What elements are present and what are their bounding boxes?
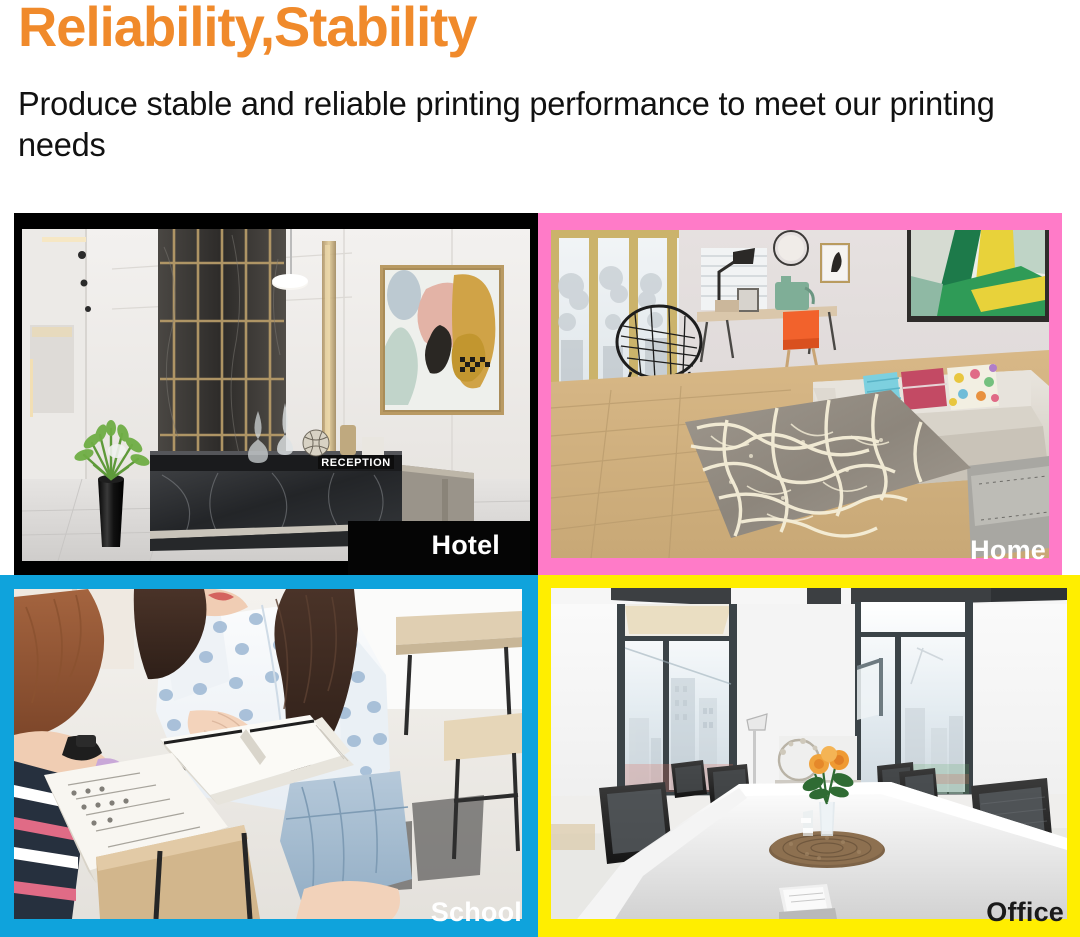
school-illustration — [14, 589, 522, 919]
scene-card-office: Office — [538, 575, 1080, 937]
page-title: Reliability,Stability — [18, 0, 477, 60]
home-illustration — [551, 230, 1049, 558]
scene-grid: RECEPTION — [0, 213, 1080, 937]
hotel-photo: RECEPTION — [22, 229, 530, 561]
scene-card-home: Home — [538, 213, 1062, 575]
svg-text:RECEPTION: RECEPTION — [321, 457, 391, 469]
promo-banner: Reliability,Stability Produce stable and… — [0, 0, 1080, 937]
scene-card-hotel: RECEPTION — [14, 213, 538, 575]
scene-label-home: Home — [970, 537, 1046, 564]
scene-label-hotel: Hotel — [432, 532, 501, 559]
page-subtitle: Produce stable and reliable printing per… — [18, 84, 1033, 166]
office-photo — [551, 588, 1067, 919]
school-photo — [14, 589, 522, 919]
office-illustration — [551, 588, 1067, 919]
hotel-illustration: RECEPTION — [22, 229, 530, 561]
scene-label-school: School — [431, 899, 522, 926]
scene-label-office: Office — [986, 899, 1064, 926]
scene-card-school: School — [0, 575, 538, 937]
header: Reliability,Stability Produce stable and… — [0, 0, 1080, 200]
home-photo — [551, 230, 1049, 558]
